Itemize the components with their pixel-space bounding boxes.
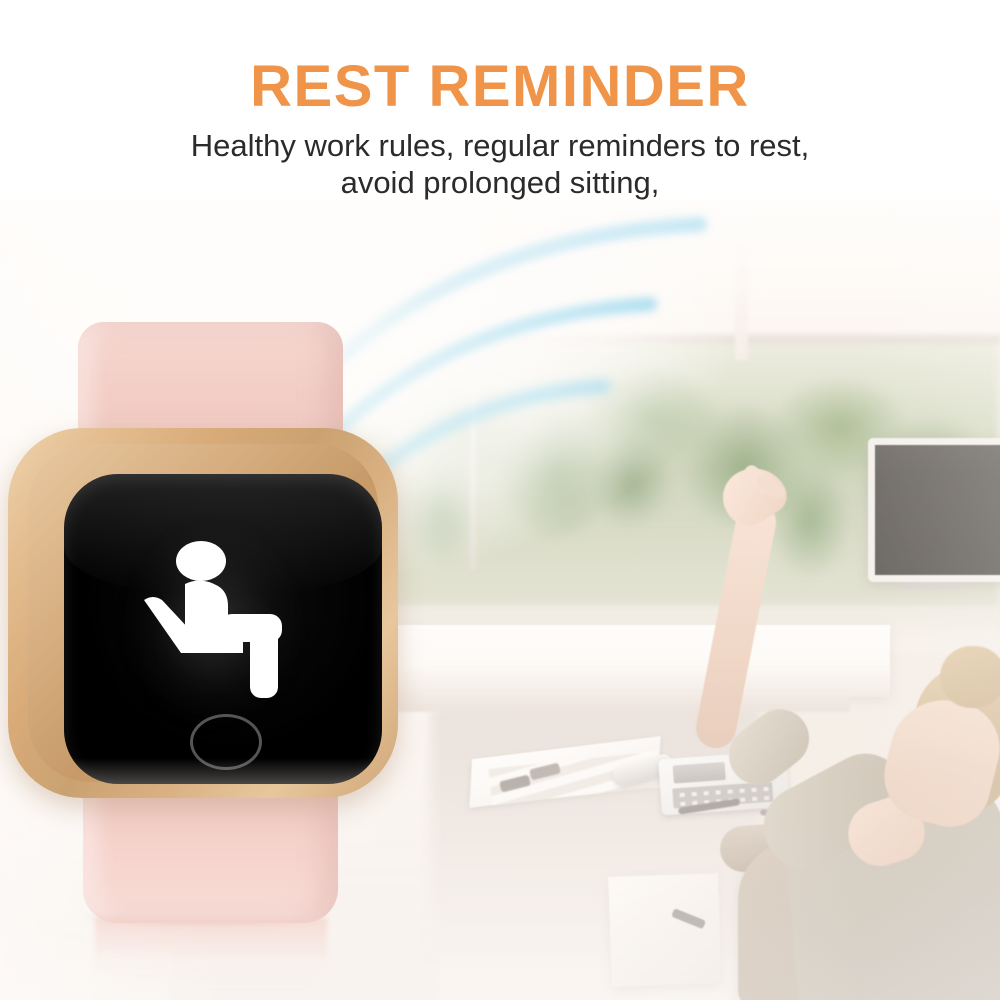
smart-watch bbox=[0, 300, 400, 940]
watch-band-reflection bbox=[95, 918, 327, 990]
subtitle-line-1: Healthy work rules, regular reminders to… bbox=[0, 128, 1000, 165]
screen-bottom-reflection bbox=[64, 758, 382, 784]
watch-screen[interactable] bbox=[64, 474, 382, 784]
watch-band-bottom bbox=[83, 788, 338, 923]
marketing-banner: REST REMINDER Healthy work rules, regula… bbox=[0, 0, 1000, 1000]
woman-hair-bun bbox=[940, 646, 1000, 708]
subtitle-line-2: avoid prolonged sitting, bbox=[0, 165, 1000, 202]
computer-monitor bbox=[868, 438, 1000, 582]
page-subtitle: Healthy work rules, regular reminders to… bbox=[0, 128, 1000, 201]
watch-case bbox=[8, 428, 398, 798]
watch-case-inner-bezel bbox=[28, 444, 378, 782]
page-title: REST REMINDER bbox=[0, 58, 1000, 116]
sitting-person-icon bbox=[138, 538, 308, 703]
storage-box bbox=[608, 873, 722, 987]
